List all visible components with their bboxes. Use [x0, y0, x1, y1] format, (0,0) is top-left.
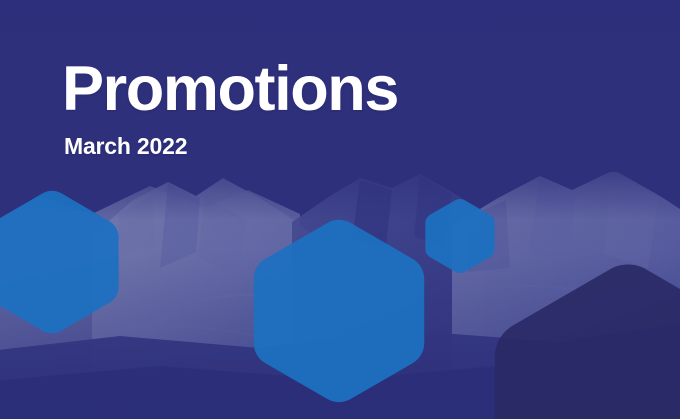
promotions-banner: Promotions March 2022 — [0, 0, 680, 419]
hexagon-center-large — [243, 215, 435, 407]
banner-text-block: Promotions March 2022 — [62, 58, 398, 158]
page-subtitle: March 2022 — [64, 135, 398, 158]
hexagon-left-edge — [0, 187, 127, 337]
hexagon-dark-right-svg — [478, 257, 680, 419]
page-title: Promotions — [62, 58, 398, 121]
hexagon-left-edge-svg — [0, 187, 127, 337]
hexagon-center-large-svg — [243, 215, 435, 407]
hexagon-dark-right — [478, 257, 680, 419]
